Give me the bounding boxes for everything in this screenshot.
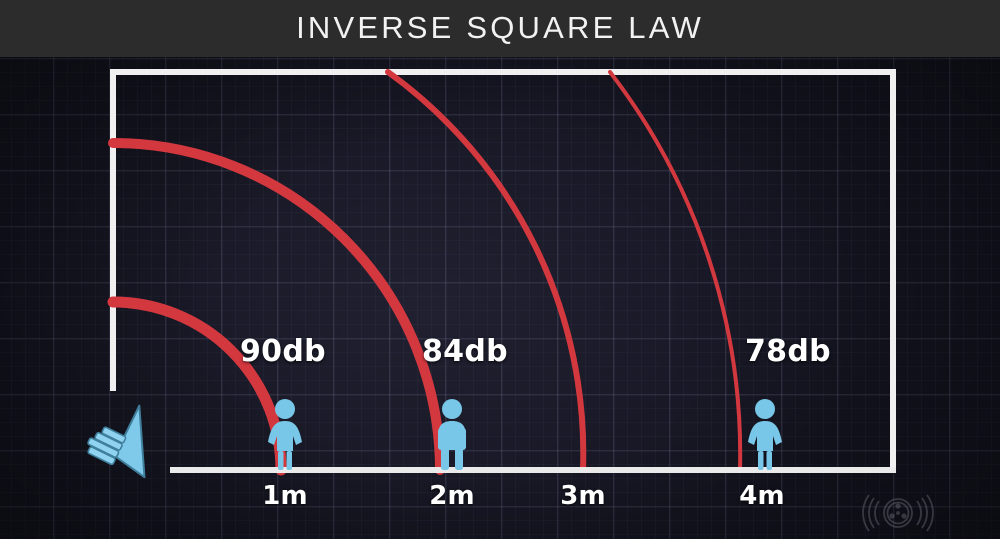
sound-driver-logo-icon — [862, 489, 934, 537]
db-label-1m: 90db — [240, 334, 326, 369]
distance-label-4m: 4m — [722, 481, 802, 511]
db-label-4m: 78db — [745, 334, 831, 369]
person-male-icon — [428, 398, 476, 472]
speaker-icon — [78, 398, 178, 478]
distance-label-3m: 3m — [543, 481, 623, 511]
inverse-square-law-infographic: INVERSE SQUARE LAW — [0, 0, 1000, 539]
person-female-icon — [739, 398, 791, 472]
page-title: INVERSE SQUARE LAW — [0, 0, 1000, 57]
person-female-icon — [259, 398, 311, 472]
distance-label-1m: 1m — [245, 481, 325, 511]
distance-label-2m: 2m — [412, 481, 492, 511]
db-label-2m: 84db — [422, 334, 508, 369]
